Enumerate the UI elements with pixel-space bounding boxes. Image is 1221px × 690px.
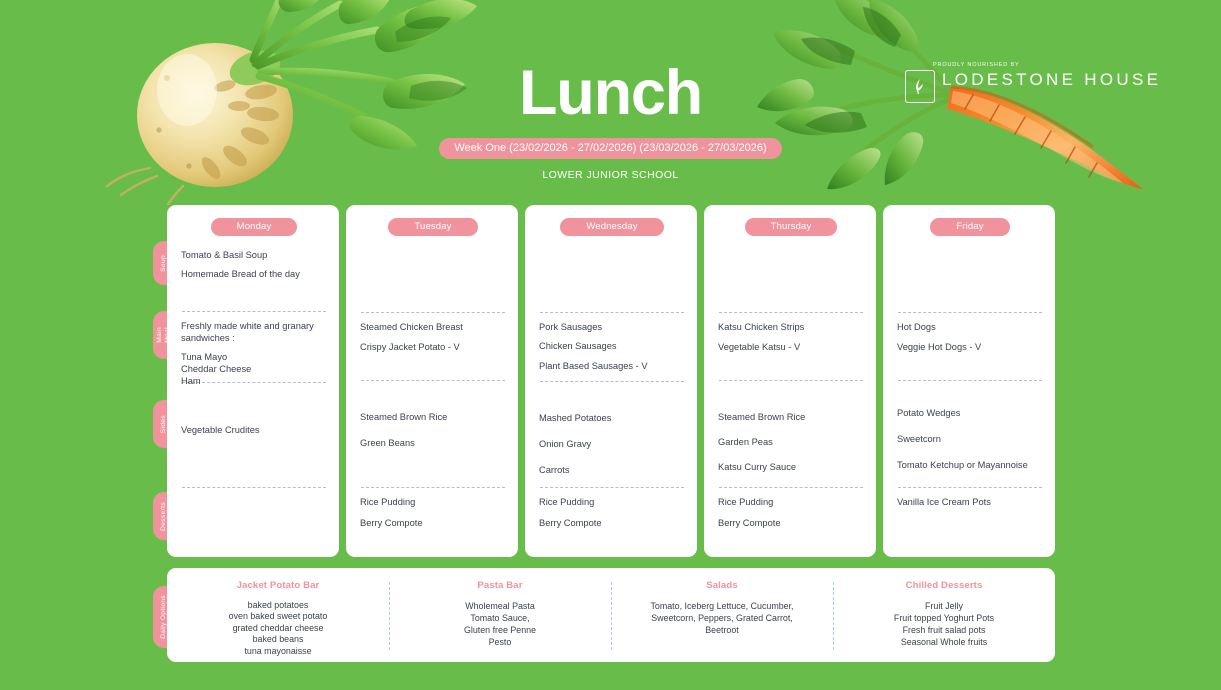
menu-item: Tomato & Basil Soup [181, 250, 327, 262]
daily-option-items: Fruit Jelly Fruit topped Yoghurt Pots Fr… [843, 600, 1045, 648]
menu-item: Mashed Potatoes [539, 413, 685, 425]
menu-item: Berry Compote [539, 518, 685, 530]
menu-item: Rice Pudding [360, 497, 506, 509]
daily-option-items: Wholemeal Pasta Tomato Sauce, Gluten fre… [399, 600, 601, 648]
thursday-sides-section: Steamed Brown Rice Garden Peas Katsu Cur… [718, 381, 864, 487]
menu-item: Freshly made white and granary sandwiche… [181, 321, 327, 345]
school-name: LOWER JUNIOR SCHOOL [0, 169, 1221, 181]
menu-item: Tuna Mayo [181, 352, 327, 364]
daily-option-salads: Salads Tomato, Iceberg Lettuce, Cucumber… [611, 580, 833, 652]
day-header-wednesday: Wednesday [560, 218, 663, 236]
menu-item: Sweetcorn [897, 434, 1043, 446]
wednesday-main-section: Pork Sausages Chicken Sausages Plant Bas… [539, 313, 685, 382]
friday-soup-section [897, 236, 1043, 313]
friday-main-section: Hot Dogs Veggie Hot Dogs - V [897, 313, 1043, 380]
monday-sides-section: Vegetable Crudites [181, 383, 327, 487]
menu-item: Potato Wedges [897, 408, 1043, 420]
daily-option-title: Salads [621, 580, 823, 591]
menu-item: Homemade Bread of the day [181, 269, 327, 281]
daily-option-pasta-bar: Pasta Bar Wholemeal Pasta Tomato Sauce, … [389, 580, 611, 652]
monday-desserts-section [181, 488, 327, 547]
menu-item: Rice Pudding [718, 497, 864, 509]
day-header-friday: Friday [930, 218, 1009, 236]
menu-item: Onion Gravy [539, 439, 685, 451]
week-range-badge: Week One (23/02/2026 - 27/02/2026) (23/0… [439, 138, 781, 159]
menu-item: Steamed Brown Rice [360, 412, 506, 424]
page-title: Lunch [0, 60, 1221, 126]
day-column-friday: Friday Hot Dogs Veggie Hot Dogs - V Pota… [883, 205, 1055, 557]
day-column-thursday: Thursday Katsu Chicken Strips Vegetable … [704, 205, 876, 557]
day-column-tuesday: Tuesday Steamed Chicken Breast Crispy Ja… [346, 205, 518, 557]
menu-item: Veggie Hot Dogs - V [897, 342, 1043, 354]
thursday-desserts-section: Rice Pudding Berry Compote [718, 488, 864, 547]
wednesday-sides-section: Mashed Potatoes Onion Gravy Carrots [539, 382, 685, 487]
daily-option-chilled-desserts: Chilled Desserts Fruit Jelly Fruit toppe… [833, 580, 1055, 652]
menu-item: Cheddar Cheese [181, 364, 327, 376]
monday-main-section: Freshly made white and granary sandwiche… [181, 312, 327, 382]
wednesday-soup-section [539, 236, 685, 312]
page-header: Lunch Week One (23/02/2026 - 27/02/2026)… [0, 60, 1221, 181]
menu-item: Plant Based Sausages - V [539, 361, 685, 373]
menu-item: Berry Compote [718, 518, 864, 530]
menu-item: Vegetable Crudites [181, 425, 327, 437]
menu-item: Chicken Sausages [539, 341, 685, 353]
menu-item: Tomato Ketchup or Mayannoise [897, 460, 1043, 472]
day-column-wednesday: Wednesday Pork Sausages Chicken Sausages… [525, 205, 697, 557]
friday-desserts-section: Vanilla Ice Cream Pots [897, 488, 1043, 547]
menu-item: Garden Peas [718, 437, 864, 449]
menu-item: Katsu Chicken Strips [718, 322, 864, 334]
daily-option-title: Chilled Desserts [843, 580, 1045, 591]
menu-item: Steamed Brown Rice [718, 412, 864, 424]
tuesday-main-section: Steamed Chicken Breast Crispy Jacket Pot… [360, 313, 506, 380]
menu-item: Steamed Chicken Breast [360, 322, 506, 334]
menu-item: Rice Pudding [539, 497, 685, 509]
tuesday-sides-section: Steamed Brown Rice Green Beans [360, 381, 506, 487]
menu-item: Vegetable Katsu - V [718, 342, 864, 354]
menu-item: Vanilla Ice Cream Pots [897, 497, 1043, 509]
weekly-menu-grid: Monday Tomato & Basil Soup Homemade Brea… [167, 205, 1055, 557]
monday-soup-section: Tomato & Basil Soup Homemade Bread of th… [181, 236, 327, 312]
day-header-thursday: Thursday [745, 218, 838, 236]
thursday-main-section: Katsu Chicken Strips Vegetable Katsu - V [718, 313, 864, 380]
menu-item: Green Beans [360, 438, 506, 450]
daily-option-items: Tomato, Iceberg Lettuce, Cucumber, Sweet… [621, 600, 823, 636]
daily-options-bar: Jacket Potato Bar baked potatoes oven ba… [167, 568, 1055, 662]
menu-item: Crispy Jacket Potato - V [360, 342, 506, 354]
tuesday-desserts-section: Rice Pudding Berry Compote [360, 488, 506, 547]
tuesday-soup-section [360, 236, 506, 313]
daily-option-title: Jacket Potato Bar [177, 580, 379, 591]
day-column-monday: Monday Tomato & Basil Soup Homemade Brea… [167, 205, 339, 557]
thursday-soup-section [718, 236, 864, 313]
menu-item: Pork Sausages [539, 322, 685, 334]
menu-item: Hot Dogs [897, 322, 1043, 334]
daily-option-items: baked potatoes oven baked sweet potato g… [177, 600, 379, 657]
daily-option-jacket-potato-bar: Jacket Potato Bar baked potatoes oven ba… [167, 580, 389, 652]
menu-item: Katsu Curry Sauce [718, 462, 864, 474]
wednesday-desserts-section: Rice Pudding Berry Compote [539, 488, 685, 547]
menu-item: Berry Compote [360, 518, 506, 530]
daily-option-title: Pasta Bar [399, 580, 601, 591]
day-header-monday: Monday [211, 218, 298, 236]
day-header-tuesday: Tuesday [388, 218, 477, 236]
menu-item: Carrots [539, 465, 685, 477]
friday-sides-section: Potato Wedges Sweetcorn Tomato Ketchup o… [897, 381, 1043, 487]
